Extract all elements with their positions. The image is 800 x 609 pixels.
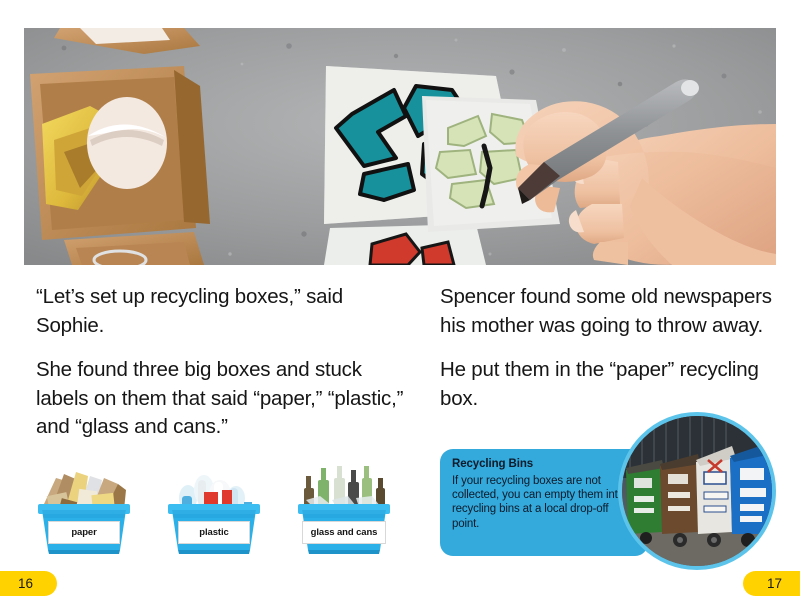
- right-text-column: Spencer found some old newspapers his mo…: [440, 283, 780, 413]
- bin-label-paper: paper: [48, 521, 120, 544]
- bin-figure-paper: paper: [30, 460, 138, 558]
- page-number-tab-right: 17: [743, 571, 800, 596]
- left-paragraph-1: “Let’s set up recycling boxes,” said Sop…: [36, 283, 406, 340]
- fact-box-title: Recycling Bins: [452, 458, 638, 470]
- bin-figure-glass-and-cans: glass and cans: [290, 460, 398, 558]
- fact-box: Recycling Bins If your recycling boxes a…: [440, 449, 648, 556]
- page-number-right: 17: [767, 576, 782, 591]
- recycling-bins-row: paper: [30, 458, 400, 558]
- hero-photo: [24, 28, 776, 265]
- left-paragraph-2: She found three big boxes and stuck labe…: [36, 356, 406, 442]
- left-text-column: “Let’s set up recycling boxes,” said Sop…: [36, 283, 406, 442]
- bin-label-plastic: plastic: [178, 521, 250, 544]
- recycling-dumpsters-illustration: [622, 416, 772, 566]
- right-paragraph-1: Spencer found some old newspapers his mo…: [440, 283, 780, 340]
- fact-box-body: If your recycling boxes are not collecte…: [452, 474, 638, 531]
- bin-label-glass-and-cans: glass and cans: [302, 521, 386, 544]
- book-spread-page: “Let’s set up recycling boxes,” said Sop…: [0, 0, 800, 609]
- right-paragraph-2: He put them in the “paper” recycling box…: [440, 356, 780, 413]
- fact-box-photo: [618, 412, 776, 570]
- page-number-left: 16: [18, 576, 33, 591]
- bin-figure-plastic: plastic: [160, 460, 268, 558]
- hero-photo-illustration: [24, 28, 776, 265]
- page-number-tab-left: 16: [0, 571, 57, 596]
